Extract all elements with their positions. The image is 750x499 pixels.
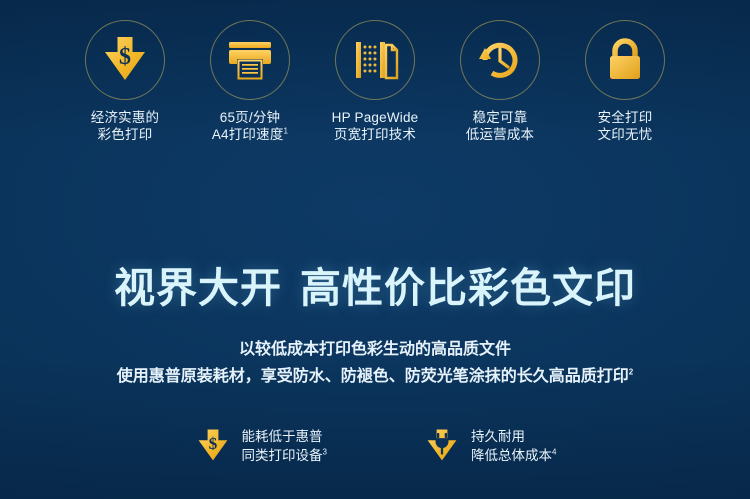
promo-banner: $ 经济实惠的 彩色打印: [0, 0, 750, 499]
svg-text:$: $: [208, 434, 217, 453]
printer-icon: [225, 37, 275, 83]
bottom-label-line2: 同类打印设备3: [242, 446, 327, 465]
bottom-label-line2: 降低总体成本4: [471, 446, 556, 465]
bottom-benefit-row: $ 能耗低于惠普 同类打印设备3: [0, 424, 750, 468]
bottom-item-label: 持久耐用 降低总体成本4: [471, 427, 556, 465]
bottom-label-line1: 能耗低于惠普: [242, 427, 327, 446]
footnote-marker: 2: [629, 368, 633, 377]
lock-icon: [602, 35, 648, 85]
feature-label-line2: 低运营成本: [466, 126, 535, 143]
subtitle-line1: 以较低成本打印色彩生动的高品质文件: [0, 339, 750, 361]
clock-refresh-icon: [475, 35, 525, 85]
headline: 视界大开高性价比彩色文印: [0, 263, 750, 313]
feature-label: HP PageWide 页宽打印技术: [332, 109, 419, 143]
headline-part2: 高性价比彩色文印: [300, 265, 636, 311]
feature-label-line1: 经济实惠的: [91, 109, 160, 126]
feature-icon-circle: [210, 20, 290, 100]
subtitle-line2: 使用惠普原装耗材，享受防水、防褪色、防荧光笔涂抹的长久高品质打印2: [0, 366, 750, 388]
footnote-marker: 3: [323, 448, 327, 457]
arrow-down-dollar-icon: $: [100, 34, 150, 86]
arrow-down-plug-icon: [423, 424, 461, 468]
feature-item-speed[interactable]: 65页/分钟 A4打印速度1: [188, 20, 313, 143]
feature-item-security[interactable]: 安全打印 文印无忧: [563, 20, 688, 143]
bottom-item-label: 能耗低于惠普 同类打印设备3: [242, 427, 327, 465]
svg-text:$: $: [119, 44, 131, 70]
feature-label: 65页/分钟 A4打印速度1: [212, 109, 288, 143]
feature-item-reliable[interactable]: 稳定可靠 低运营成本: [438, 20, 563, 143]
feature-label-line1: 安全打印: [598, 109, 653, 126]
feature-label-line1: 稳定可靠: [466, 109, 535, 126]
feature-label: 稳定可靠 低运营成本: [466, 109, 535, 143]
feature-label-line1: 65页/分钟: [212, 109, 288, 126]
feature-label-line1: HP PageWide: [332, 109, 419, 126]
feature-item-economical[interactable]: $ 经济实惠的 彩色打印: [63, 20, 188, 143]
feature-icon-circle: [585, 20, 665, 100]
footnote-marker: 1: [284, 127, 289, 136]
bottom-item-energy[interactable]: $ 能耗低于惠普 同类打印设备3: [194, 424, 327, 468]
footnote-marker: 4: [552, 448, 556, 457]
feature-item-pagewide[interactable]: HP PageWide 页宽打印技术: [313, 20, 438, 143]
feature-icon-circle: [335, 20, 415, 100]
feature-row: $ 经济实惠的 彩色打印: [0, 20, 750, 143]
feature-label-line2: 彩色打印: [91, 126, 160, 143]
arrow-down-dollar-icon: $: [194, 424, 232, 468]
feature-icon-circle: [460, 20, 540, 100]
pagewide-printbar-icon: [350, 37, 400, 83]
feature-icon-circle: $: [85, 20, 165, 100]
bottom-label-line1: 持久耐用: [471, 427, 556, 446]
headline-part1: 视界大开: [114, 265, 282, 311]
feature-label-line2: A4打印速度1: [212, 126, 288, 143]
feature-label: 安全打印 文印无忧: [598, 109, 653, 143]
feature-label-line2: 页宽打印技术: [332, 126, 419, 143]
feature-label: 经济实惠的 彩色打印: [91, 109, 160, 143]
feature-label-line2: 文印无忧: [598, 126, 653, 143]
bottom-item-durable[interactable]: 持久耐用 降低总体成本4: [423, 424, 556, 468]
